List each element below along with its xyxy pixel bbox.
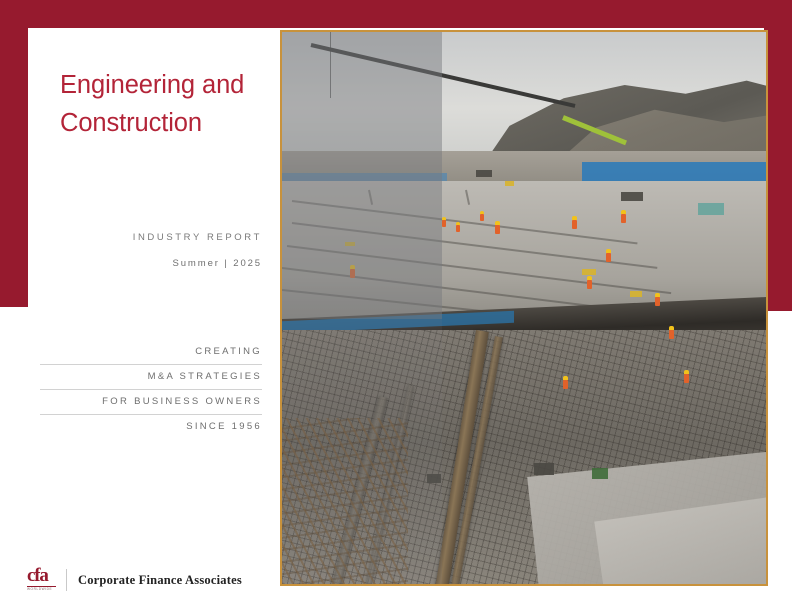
photo-worker <box>563 380 568 389</box>
photo-worker <box>350 269 355 278</box>
tagline-line-2: M&A STRATEGIES <box>40 364 262 389</box>
accent-band-top <box>0 0 792 28</box>
cover-photo-frame <box>280 30 768 586</box>
cfa-monogram-text: cfa <box>26 566 60 585</box>
report-meta: INDUSTRY REPORT Summer | 2025 <box>40 232 262 269</box>
photo-machinery <box>427 474 441 483</box>
accent-band-left <box>0 0 28 307</box>
photo-worker <box>495 225 500 234</box>
page-title: Engineering and Construction <box>60 66 275 142</box>
tagline-line-4: SINCE 1956 <box>40 414 262 439</box>
photo-blue-fence <box>582 162 766 182</box>
report-edition: Summer | 2025 <box>40 258 262 269</box>
photo-worker <box>621 214 626 223</box>
photo-machinery <box>621 192 643 201</box>
photo-machinery <box>630 291 642 297</box>
photo-machinery <box>698 203 724 215</box>
photo-worker <box>480 214 484 221</box>
report-type-label: INDUSTRY REPORT <box>40 232 262 243</box>
photo-machinery <box>476 170 492 177</box>
cfa-monogram-subtext: WORLDWIDE <box>26 587 60 591</box>
photo-machinery <box>534 463 554 475</box>
photo-worker <box>606 253 611 262</box>
photo-timber-scatter <box>282 418 408 584</box>
photo-slab-field <box>282 181 766 319</box>
logo-divider <box>66 569 67 591</box>
photo-crane-mast <box>330 32 331 98</box>
photo-worker <box>442 220 446 227</box>
photo-worker <box>669 330 674 339</box>
photo-worker <box>456 225 460 232</box>
photo-worker <box>655 297 660 306</box>
tagline-block: CREATING M&A STRATEGIES FOR BUSINESS OWN… <box>40 340 262 439</box>
company-wordmark: Corporate Finance Associates <box>78 573 242 588</box>
photo-worker <box>684 374 689 383</box>
photo-machinery <box>582 269 596 275</box>
photo-worker <box>587 280 592 289</box>
company-logo: cfa WORLDWIDE Corporate Finance Associat… <box>26 566 242 594</box>
cfa-monogram-icon: cfa WORLDWIDE <box>26 566 60 594</box>
photo-machinery <box>505 181 514 186</box>
cover-photo <box>282 32 766 584</box>
accent-band-right <box>764 0 792 311</box>
tagline-line-3: FOR BUSINESS OWNERS <box>40 389 262 414</box>
photo-machinery <box>345 242 355 246</box>
page-title-line-1: Engineering and <box>60 66 275 104</box>
report-cover-slide: Engineering and Construction INDUSTRY RE… <box>0 0 792 612</box>
cfa-monogram-rule <box>27 586 56 587</box>
tagline-line-1: CREATING <box>40 340 262 364</box>
photo-worker <box>572 220 577 229</box>
photo-machinery <box>592 468 608 479</box>
page-title-line-2: Construction <box>60 104 275 142</box>
